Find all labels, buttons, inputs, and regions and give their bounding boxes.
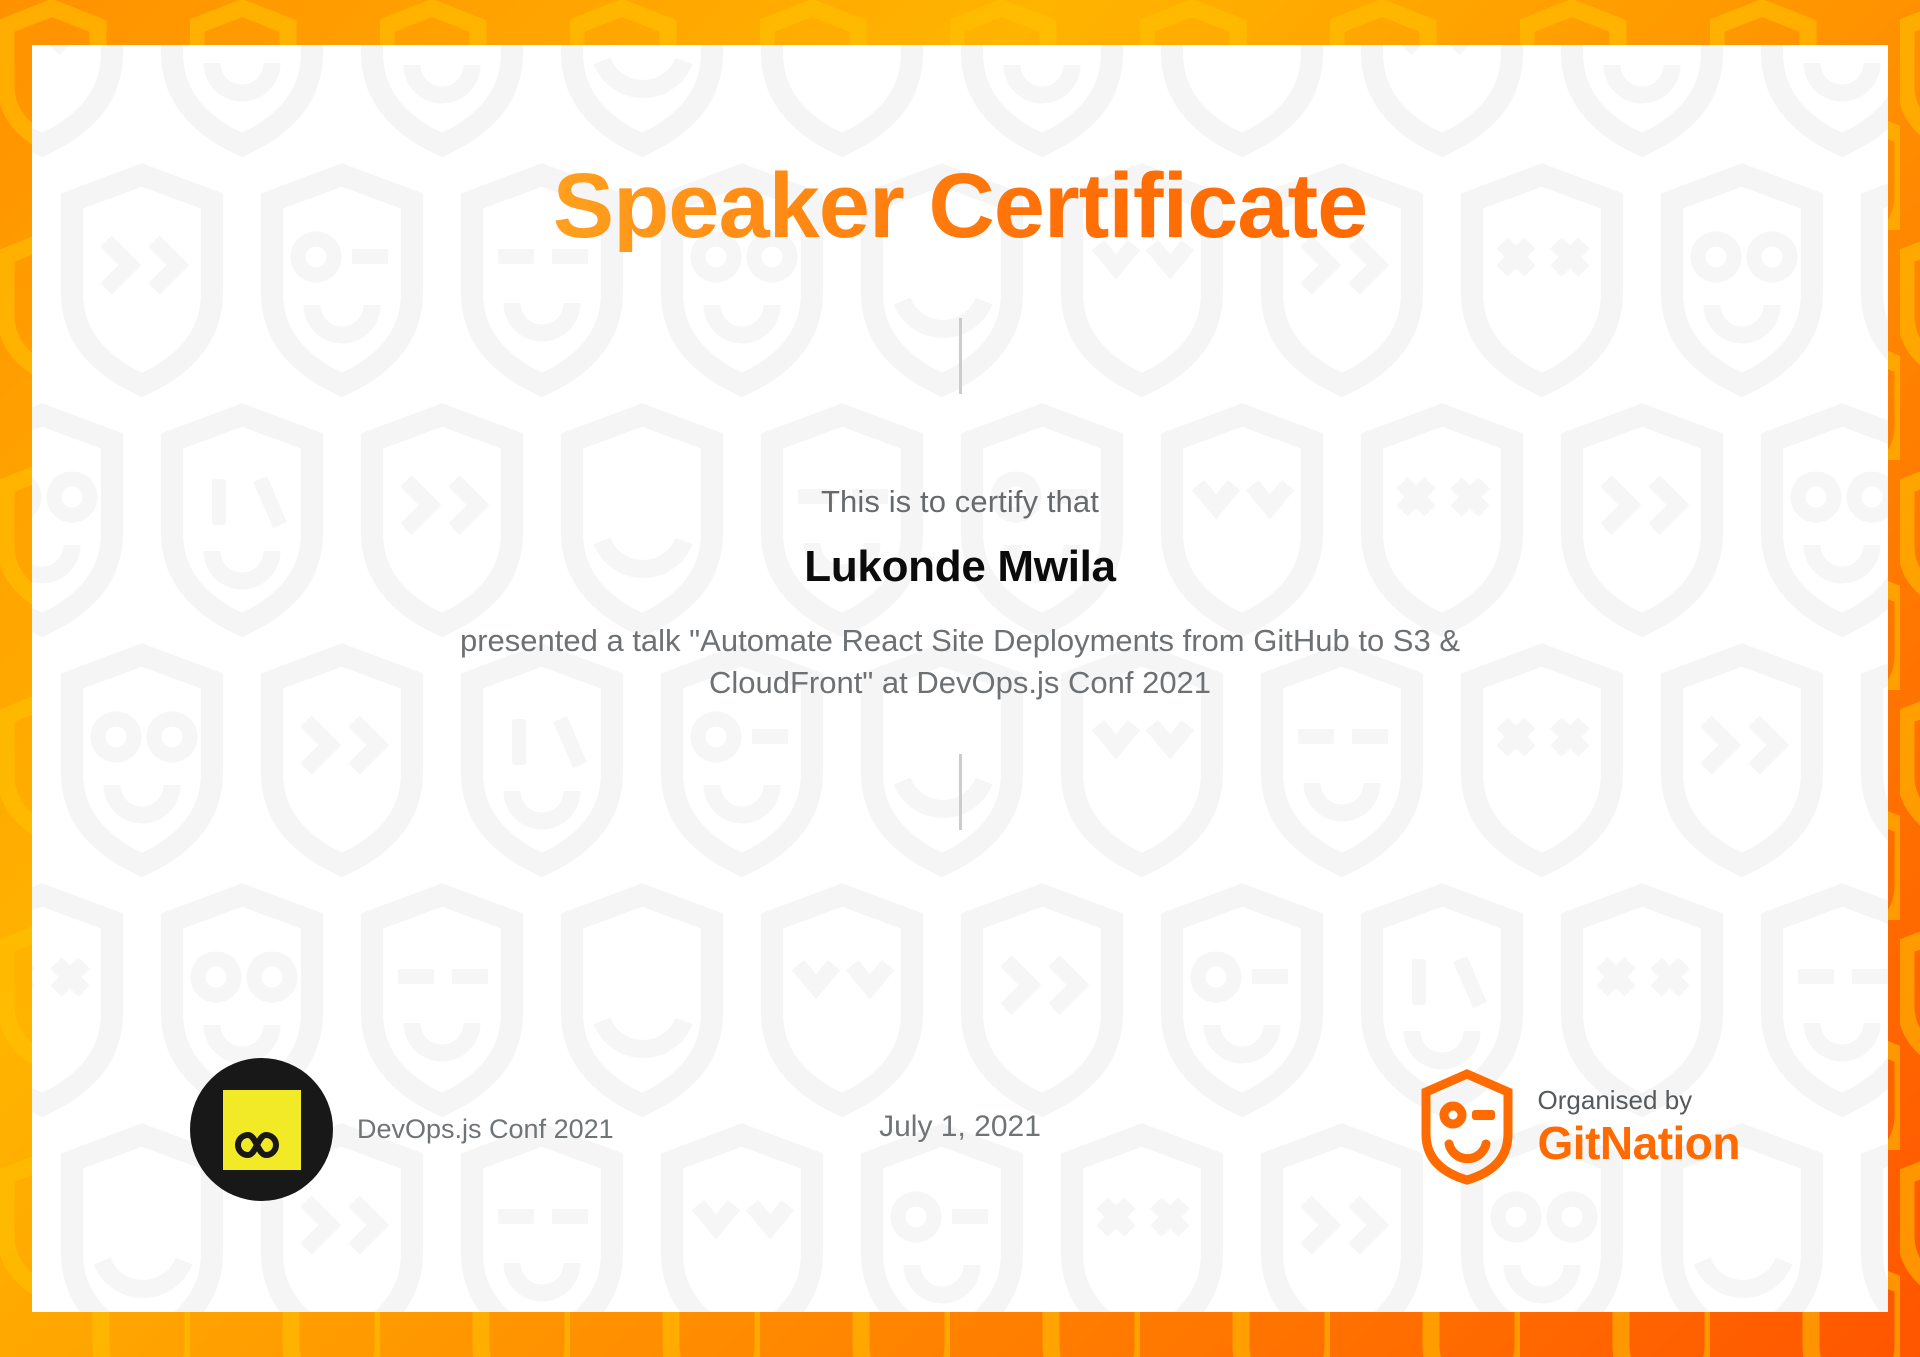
organised-by-label: Organised by <box>1538 1087 1740 1114</box>
certify-line: This is to certify that <box>821 484 1099 520</box>
logo-yellow-square <box>223 1090 301 1170</box>
gitnation-shield-face-icon <box>1418 1068 1516 1186</box>
divider-bottom <box>959 754 962 830</box>
certificate-footer: DevOps.js Conf 2021 July 1, 2021 Organis… <box>32 1058 1888 1184</box>
certificate-panel: Speaker Certificate This is to certify t… <box>32 45 1888 1312</box>
talk-description: presented a talk "Automate React Site De… <box>400 620 1520 704</box>
recipient-name: Lukonde Mwila <box>804 542 1115 592</box>
divider-top <box>959 318 962 394</box>
organiser-text: Organised by GitNation <box>1538 1087 1740 1167</box>
event-name: DevOps.js Conf 2021 <box>357 1114 614 1145</box>
event-block: DevOps.js Conf 2021 <box>190 1058 614 1201</box>
organiser-block: Organised by GitNation <box>1418 1068 1740 1186</box>
issue-date: July 1, 2021 <box>879 1110 1041 1144</box>
infinity-icon <box>234 1130 290 1160</box>
page-title: Speaker Certificate <box>553 160 1368 252</box>
organiser-name: GitNation <box>1538 1119 1740 1167</box>
devops-js-logo <box>190 1058 333 1201</box>
certificate-root: Speaker Certificate This is to certify t… <box>0 0 1920 1357</box>
